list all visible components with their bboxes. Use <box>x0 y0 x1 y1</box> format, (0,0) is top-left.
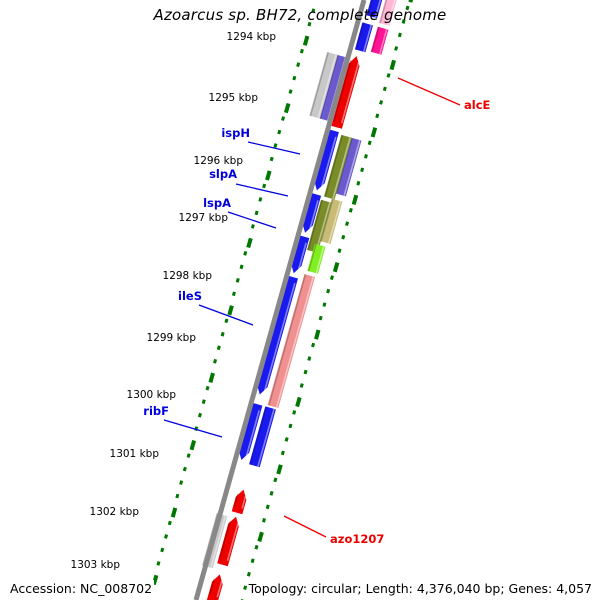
ruler-minor-tick <box>328 289 329 293</box>
ruler-minor-tick <box>294 76 295 80</box>
ruler-minor-tick <box>339 249 340 253</box>
ruler-minor-tick <box>384 87 385 91</box>
ruler-tick-label: 1298 kbp <box>154 270 212 282</box>
ruler-minor-tick <box>252 559 253 563</box>
ruler-minor-tick <box>184 467 185 471</box>
ruler-major-tick <box>173 508 176 517</box>
ruler-minor-tick <box>162 548 163 552</box>
ruler-minor-tick <box>320 316 321 320</box>
ruler-minor-tick <box>399 33 400 37</box>
ruler-minor-tick <box>358 181 359 185</box>
ruler-minor-tick <box>264 184 265 188</box>
gene-label-ribf[interactable]: ribF <box>143 404 169 418</box>
ruler-tick-label: 1301 kbp <box>101 448 159 460</box>
topology-text: Topology: circular; Length: 4,376,040 bp… <box>247 580 594 597</box>
gene-label-leader-line <box>164 420 222 437</box>
ruler-minor-tick <box>350 208 351 212</box>
gene-label-leader-line <box>398 78 460 105</box>
ruler-major-tick <box>373 128 376 137</box>
ruler-minor-tick <box>324 303 325 307</box>
ruler-major-tick <box>392 60 395 69</box>
ruler-minor-tick <box>396 47 397 51</box>
ruler-minor-tick <box>252 225 253 229</box>
status-bar: Accession: NC_008702 Topology: circular;… <box>0 576 600 600</box>
ruler-minor-tick <box>313 343 314 347</box>
ruler-major-tick <box>335 263 338 272</box>
ruler-major-tick <box>192 441 195 450</box>
accession-text: Accession: NC_008702 <box>8 580 154 597</box>
genome-viewer-window: 1294 kbp1295 kbp1296 kbp1297 kbp1298 kbp… <box>0 0 600 600</box>
gene-label-leader-line <box>248 142 300 154</box>
gene-label-lspa[interactable]: lspA <box>203 196 231 210</box>
ruler-major-tick <box>410 0 413 2</box>
ruler-minor-tick <box>301 384 302 388</box>
ruler-minor-tick <box>264 518 265 522</box>
ruler-tick-label: 1300 kbp <box>118 389 176 401</box>
page-title: Azoarcus sp. BH72, complete genome <box>0 6 600 24</box>
ruler-minor-tick <box>343 235 344 239</box>
ruler-minor-tick <box>245 251 246 255</box>
ruler-major-tick <box>259 532 262 541</box>
ruler-minor-tick <box>222 332 223 336</box>
gene-label-leader-line <box>236 184 288 196</box>
ruler-minor-tick <box>377 114 378 118</box>
ruler-tick-label: 1295 kbp <box>200 92 258 104</box>
gene-label-iles[interactable]: ileS <box>178 289 202 303</box>
ruler-minor-tick <box>158 562 159 566</box>
genome-map-viewport[interactable]: 1294 kbp1295 kbp1296 kbp1297 kbp1298 kbp… <box>0 0 600 600</box>
ruler-minor-tick <box>271 491 272 495</box>
ruler-minor-tick <box>256 545 257 549</box>
ruler-major-tick <box>278 465 281 474</box>
ruler-major-tick <box>316 330 319 339</box>
ruler-minor-tick <box>199 413 200 417</box>
feature-layer <box>202 0 402 600</box>
ruler-major-tick <box>305 36 308 45</box>
ruler-major-tick <box>267 171 270 180</box>
gene-label-isph[interactable]: ispH <box>221 126 250 140</box>
ruler-minor-tick <box>177 494 178 498</box>
ruler-minor-tick <box>260 198 261 202</box>
ruler-minor-tick <box>294 411 295 415</box>
ruler-minor-tick <box>362 168 363 172</box>
ruler-minor-tick <box>169 521 170 525</box>
ruler-minor-tick <box>305 370 306 374</box>
ruler-minor-tick <box>218 346 219 350</box>
gene-label-alce[interactable]: alcE <box>464 98 490 112</box>
ruler-minor-tick <box>298 63 299 67</box>
ruler-minor-tick <box>347 222 348 226</box>
ruler-minor-tick <box>256 211 257 215</box>
ruler-minor-tick <box>309 357 310 361</box>
gene-label-leader-line <box>284 516 326 537</box>
ruler-minor-tick <box>290 424 291 428</box>
gene-label-azo1207[interactable]: azo1207 <box>330 532 384 546</box>
ruler-major-tick <box>354 195 357 204</box>
ruler-minor-tick <box>267 505 268 509</box>
ruler-minor-tick <box>166 535 167 539</box>
ruler-minor-tick <box>207 386 208 390</box>
ruler-minor-tick <box>282 451 283 455</box>
ruler-major-tick <box>229 306 232 315</box>
ruler-minor-tick <box>233 292 234 296</box>
ruler-minor-tick <box>188 454 189 458</box>
ruler-minor-tick <box>226 319 227 323</box>
ruler-minor-tick <box>369 141 370 145</box>
gene-label-slpa[interactable]: slpA <box>209 167 237 181</box>
ruler-minor-tick <box>275 144 276 148</box>
ruler-minor-tick <box>286 438 287 442</box>
ruler-tick-label: 1303 kbp <box>62 559 120 571</box>
ruler-minor-tick <box>237 278 238 282</box>
ruler-minor-tick <box>301 49 302 53</box>
ruler-minor-tick <box>271 157 272 161</box>
ruler-tick-label: 1297 kbp <box>170 212 228 224</box>
ruler-tick-label: 1299 kbp <box>138 332 196 344</box>
ruler-minor-tick <box>215 359 216 363</box>
ruler-major-tick <box>286 104 289 113</box>
ruler-minor-tick <box>203 400 204 404</box>
ruler-minor-tick <box>331 276 332 280</box>
ruler-minor-tick <box>381 101 382 105</box>
ruler-major-tick <box>248 238 251 247</box>
genome-backbone-line <box>196 0 364 600</box>
ruler-major-tick <box>297 397 300 406</box>
ruler-minor-tick <box>181 481 182 485</box>
ruler-minor-tick <box>241 265 242 269</box>
ruler-minor-tick <box>275 478 276 482</box>
ruler-tick-label: 1294 kbp <box>218 31 276 43</box>
ruler-minor-tick <box>388 74 389 78</box>
ruler-minor-tick <box>279 130 280 134</box>
ruler-major-tick <box>210 373 213 382</box>
ruler-minor-tick <box>283 117 284 121</box>
label-leader-line-layer <box>164 78 460 537</box>
ruler-minor-tick <box>290 90 291 94</box>
ruler-tick-label: 1302 kbp <box>81 506 139 518</box>
ruler-minor-tick <box>365 154 366 158</box>
ruler-tick-label: 1296 kbp <box>185 155 243 167</box>
